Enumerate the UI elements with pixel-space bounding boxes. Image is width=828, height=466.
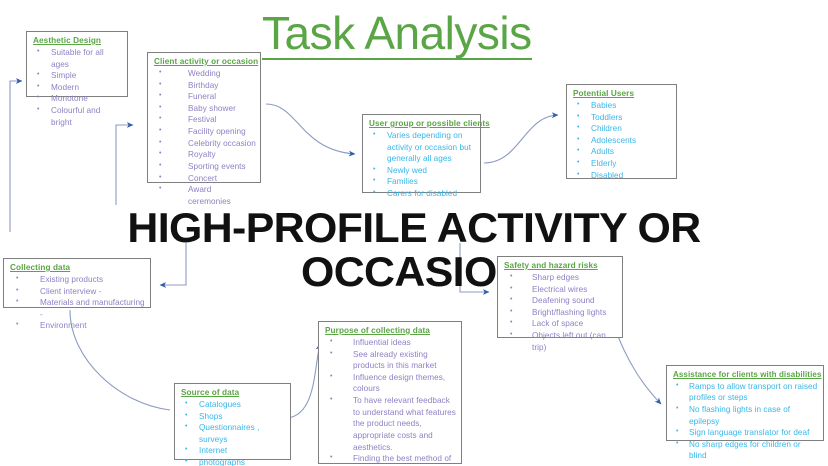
- list-item: Internet: [181, 445, 286, 457]
- list-item: Deafening sound: [504, 295, 618, 307]
- list-item: Ramps to allow transport on raised profi…: [673, 381, 819, 404]
- bullet-list: Babies Toddlers Children Adolescents Adu…: [573, 100, 672, 181]
- task-analysis-diagram: Task Analysis HIGH-PROFILE ACTIVITY OR O…: [0, 0, 828, 466]
- connector-heading-to-client: [116, 125, 133, 205]
- list-item: Baby shower: [154, 103, 256, 115]
- list-item: See already existing products in this ma…: [325, 349, 457, 372]
- list-item: Lack of space: [504, 318, 618, 330]
- list-item: Families: [369, 176, 476, 188]
- bullet-list: Existing products Client interview - Mat…: [10, 274, 146, 332]
- bullet-list: Influential ideas See already existing p…: [325, 337, 457, 466]
- list-item: Carers for disabled: [369, 188, 476, 200]
- bullet-list: Catalogues Shops Questionnaires , survey…: [181, 399, 286, 466]
- box-purpose-of-collecting-data[interactable]: Purpose of collecting data Influential i…: [318, 321, 462, 464]
- box-title: Aesthetic Design: [33, 35, 123, 47]
- bullet-list: Ramps to allow transport on raised profi…: [673, 381, 819, 462]
- list-item: Objects left out (can trip): [504, 330, 618, 353]
- list-item: Festival: [154, 114, 256, 126]
- list-item: Award ceremonies: [154, 184, 256, 207]
- box-title: Potential Users: [573, 88, 672, 100]
- box-title: User group or possible clients: [369, 118, 476, 130]
- bullet-list: Varies depending on activity or occasion…: [369, 130, 476, 200]
- box-safety-hazard-risks[interactable]: Safety and hazard risks Sharp edges Elec…: [497, 256, 623, 338]
- list-item: Concert: [154, 173, 256, 185]
- list-item: Newly wed: [369, 165, 476, 177]
- list-item: Adolescents: [573, 135, 672, 147]
- list-item: Sporting events: [154, 161, 256, 173]
- list-item: No sharp edges for children or blind: [673, 439, 819, 462]
- list-item: Modern: [33, 82, 123, 94]
- list-item: Client interview -: [10, 286, 146, 298]
- list-item: Colourful and bright: [33, 105, 123, 128]
- box-assistance-for-clients-with-disabilities[interactable]: Assistance for clients with disabilities…: [666, 365, 824, 441]
- list-item: Existing products: [10, 274, 146, 286]
- box-title: Assistance for clients with disabilities: [673, 369, 819, 381]
- list-item: To have relevant feedback to understand …: [325, 395, 457, 453]
- list-item: Facility opening: [154, 126, 256, 138]
- connector-source-to-purpose: [288, 344, 320, 418]
- list-item: Questionnaires , surveys: [181, 422, 286, 445]
- list-item: Royalty: [154, 149, 256, 161]
- list-item: Wedding: [154, 68, 256, 80]
- list-item: Babies: [573, 100, 672, 112]
- bullet-list: Sharp edges Electrical wires Deafening s…: [504, 272, 618, 353]
- list-item: Catalogues: [181, 399, 286, 411]
- list-item: Disabled: [573, 170, 672, 182]
- list-item: Influence design themes, colours: [325, 372, 457, 395]
- box-user-group[interactable]: User group or possible clients Varies de…: [362, 114, 481, 193]
- list-item: Sign language translator for deaf: [673, 427, 819, 439]
- list-item: Varies depending on activity or occasion…: [369, 130, 476, 165]
- bullet-list: Wedding Birthday Funeral Baby shower Fes…: [154, 68, 256, 208]
- list-item: No flashing lights in case of epilepsy: [673, 404, 819, 427]
- list-item: Bright/flashing lights: [504, 307, 618, 319]
- list-item: Funeral: [154, 91, 256, 103]
- list-item: Birthday: [154, 80, 256, 92]
- box-title: Collecting data: [10, 262, 146, 274]
- box-potential-users[interactable]: Potential Users Babies Toddlers Children…: [566, 84, 677, 179]
- list-item: Suitable for all ages: [33, 47, 123, 70]
- box-title: Client activity or occasion: [154, 56, 256, 68]
- connector-usergroup-to-potential: [484, 115, 558, 163]
- list-item: Celebrity occasion: [154, 138, 256, 150]
- connector-client-to-usergroup: [266, 104, 355, 154]
- list-item: photographs: [181, 457, 286, 466]
- connector-heading-to-aesthetic: [10, 81, 22, 232]
- connector-purpose-to-assistance: [624, 338, 660, 396]
- list-item: Toddlers: [573, 112, 672, 124]
- box-client-activity[interactable]: Client activity or occasion Wedding Birt…: [147, 52, 261, 183]
- box-aesthetic-design[interactable]: Aesthetic Design Suitable for all ages S…: [26, 31, 128, 97]
- list-item: Simple: [33, 70, 123, 82]
- list-item: Influential ideas: [325, 337, 457, 349]
- page-title: Task Analysis: [262, 9, 532, 60]
- box-title: Purpose of collecting data: [325, 325, 457, 337]
- list-item: Adults: [573, 146, 672, 158]
- list-item: Children: [573, 123, 672, 135]
- list-item: Environment: [10, 320, 146, 332]
- list-item: Electrical wires: [504, 284, 618, 296]
- box-collecting-data[interactable]: Collecting data Existing products Client…: [3, 258, 151, 308]
- box-title: Safety and hazard risks: [504, 260, 618, 272]
- bullet-list: Suitable for all ages Simple Modern Mono…: [33, 47, 123, 128]
- list-item: Sharp edges: [504, 272, 618, 284]
- list-item: Finding the best method of constructing …: [325, 453, 457, 466]
- list-item: Monotone: [33, 93, 123, 105]
- box-source-of-data[interactable]: Source of data Catalogues Shops Question…: [174, 383, 291, 460]
- list-item: Shops: [181, 411, 286, 423]
- list-item: Materials and manufacturing -: [10, 297, 146, 320]
- list-item: Elderly: [573, 158, 672, 170]
- box-title: Source of data: [181, 387, 286, 399]
